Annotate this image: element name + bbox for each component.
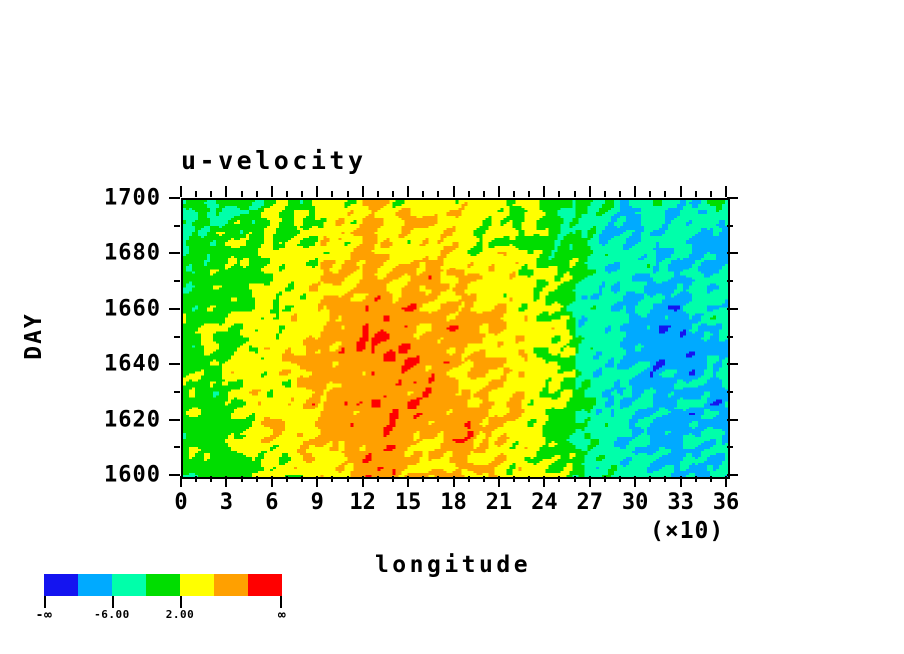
x-axis-tick bbox=[180, 476, 182, 487]
x-axis-minor-tick bbox=[286, 191, 288, 197]
colorbar-band bbox=[146, 574, 180, 596]
x-axis-tick-label: 3 bbox=[220, 490, 233, 515]
x-axis-minor-tick bbox=[528, 191, 530, 197]
x-axis-minor-tick bbox=[649, 476, 651, 482]
x-axis-minor-tick bbox=[695, 476, 697, 482]
x-axis-title: longitude bbox=[375, 552, 531, 578]
x-axis-tick bbox=[180, 186, 182, 197]
x-axis-minor-tick bbox=[649, 191, 651, 197]
x-axis-minor-tick bbox=[392, 191, 394, 197]
x-axis-minor-tick bbox=[195, 191, 197, 197]
x-axis-tick-label: 9 bbox=[311, 490, 324, 515]
x-axis-minor-tick bbox=[468, 191, 470, 197]
x-axis-minor-tick bbox=[331, 191, 333, 197]
x-axis-minor-tick bbox=[286, 476, 288, 482]
x-axis-minor-tick bbox=[664, 476, 666, 482]
colorbar-tick-label: -6.00 bbox=[94, 608, 130, 621]
y-axis-tick-label: 1640 bbox=[69, 352, 161, 377]
x-axis-tick bbox=[498, 186, 500, 197]
x-axis-tick bbox=[680, 186, 682, 197]
x-axis-minor-tick bbox=[513, 476, 515, 482]
x-axis-minor-tick bbox=[195, 476, 197, 482]
x-axis-minor-tick bbox=[604, 476, 606, 482]
x-axis-minor-tick bbox=[574, 476, 576, 482]
colorbar-tick-label: 2.00 bbox=[166, 608, 195, 621]
x-axis-multiplier: (×10) bbox=[650, 518, 724, 544]
x-axis-tick bbox=[271, 476, 273, 487]
x-axis-tick-label: 27 bbox=[577, 490, 604, 515]
x-axis-tick bbox=[271, 186, 273, 197]
y-axis-tick bbox=[727, 252, 738, 254]
x-axis-tick bbox=[453, 186, 455, 197]
x-axis-minor-tick bbox=[377, 191, 379, 197]
chart-title: u-velocity bbox=[181, 146, 367, 175]
x-axis-minor-tick bbox=[422, 476, 424, 482]
colorbar-tick bbox=[280, 596, 282, 608]
y-axis-tick bbox=[727, 363, 738, 365]
x-axis-tick-label: 24 bbox=[531, 490, 558, 515]
x-axis-minor-tick bbox=[437, 476, 439, 482]
y-axis-title: DAY bbox=[21, 312, 47, 360]
y-axis-tick bbox=[727, 474, 738, 476]
x-axis-minor-tick bbox=[695, 191, 697, 197]
y-axis-tick bbox=[727, 419, 738, 421]
x-axis-minor-tick bbox=[528, 476, 530, 482]
colorbar-band bbox=[44, 574, 78, 596]
x-axis-tick-label: 33 bbox=[667, 490, 694, 515]
x-axis-minor-tick bbox=[437, 191, 439, 197]
y-axis-tick bbox=[169, 252, 180, 254]
colorbar-band bbox=[180, 574, 214, 596]
x-axis-minor-tick bbox=[301, 191, 303, 197]
y-axis-minor-tick bbox=[174, 391, 180, 393]
x-axis-tick bbox=[407, 186, 409, 197]
x-axis-tick-label: 36 bbox=[713, 490, 740, 515]
x-axis-minor-tick bbox=[604, 191, 606, 197]
heatmap-field bbox=[183, 200, 728, 477]
x-axis-minor-tick bbox=[513, 191, 515, 197]
x-axis-minor-tick bbox=[256, 191, 258, 197]
x-axis-minor-tick bbox=[483, 476, 485, 482]
x-axis-tick-label: 6 bbox=[265, 490, 278, 515]
x-axis-tick bbox=[634, 476, 636, 487]
x-axis-minor-tick bbox=[210, 191, 212, 197]
colorbar-band bbox=[248, 574, 282, 596]
x-axis-tick bbox=[725, 476, 727, 487]
y-axis-minor-tick bbox=[727, 446, 733, 448]
x-axis-minor-tick bbox=[347, 476, 349, 482]
colorbar-band bbox=[112, 574, 146, 596]
x-axis-minor-tick bbox=[422, 191, 424, 197]
x-axis-tick bbox=[589, 186, 591, 197]
y-axis-minor-tick bbox=[174, 225, 180, 227]
x-axis-minor-tick bbox=[664, 191, 666, 197]
x-axis-tick bbox=[725, 186, 727, 197]
x-axis-minor-tick bbox=[347, 191, 349, 197]
x-axis-minor-tick bbox=[619, 476, 621, 482]
x-axis-minor-tick bbox=[558, 191, 560, 197]
x-axis-minor-tick bbox=[256, 476, 258, 482]
x-axis-minor-tick bbox=[210, 476, 212, 482]
y-axis-minor-tick bbox=[727, 391, 733, 393]
x-axis-tick bbox=[362, 476, 364, 487]
x-axis-minor-tick bbox=[710, 476, 712, 482]
x-axis-tick-label: 15 bbox=[395, 490, 422, 515]
x-axis-minor-tick bbox=[241, 191, 243, 197]
x-axis-tick-label: 0 bbox=[174, 490, 187, 515]
y-axis-tick-label: 1620 bbox=[69, 407, 161, 432]
y-axis-tick-label: 1700 bbox=[69, 186, 161, 211]
chart-figure: u-velocity 03691215182124273033361600162… bbox=[0, 0, 904, 654]
x-axis-tick bbox=[316, 186, 318, 197]
x-axis-minor-tick bbox=[241, 476, 243, 482]
x-axis-tick bbox=[225, 476, 227, 487]
colorbar-tick-label: -∞ bbox=[36, 608, 53, 623]
y-axis-tick bbox=[169, 197, 180, 199]
y-axis-tick bbox=[169, 419, 180, 421]
x-axis-minor-tick bbox=[619, 191, 621, 197]
x-axis-minor-tick bbox=[301, 476, 303, 482]
colorbar-tick bbox=[44, 596, 46, 608]
x-axis-tick-label: 21 bbox=[486, 490, 513, 515]
x-axis-tick bbox=[589, 476, 591, 487]
y-axis-minor-tick bbox=[174, 336, 180, 338]
y-axis-tick bbox=[727, 197, 738, 199]
x-axis-minor-tick bbox=[710, 191, 712, 197]
y-axis-minor-tick bbox=[727, 280, 733, 282]
y-axis-tick bbox=[169, 363, 180, 365]
x-axis-tick bbox=[543, 186, 545, 197]
x-axis-tick bbox=[362, 186, 364, 197]
x-axis-minor-tick bbox=[558, 476, 560, 482]
x-axis-tick bbox=[453, 476, 455, 487]
colorbar-tick-label: ∞ bbox=[278, 608, 286, 623]
x-axis-tick bbox=[498, 476, 500, 487]
y-axis-tick-label: 1680 bbox=[69, 241, 161, 266]
y-axis-tick-label: 1660 bbox=[69, 296, 161, 321]
x-axis-tick bbox=[225, 186, 227, 197]
colorbar-band bbox=[214, 574, 248, 596]
y-axis-minor-tick bbox=[174, 446, 180, 448]
x-axis-tick bbox=[543, 476, 545, 487]
y-axis-minor-tick bbox=[727, 336, 733, 338]
x-axis-minor-tick bbox=[392, 476, 394, 482]
y-axis-minor-tick bbox=[727, 225, 733, 227]
x-axis-minor-tick bbox=[377, 476, 379, 482]
y-axis-tick bbox=[727, 308, 738, 310]
x-axis-tick-label: 30 bbox=[622, 490, 649, 515]
x-axis-tick-label: 12 bbox=[349, 490, 376, 515]
x-axis-minor-tick bbox=[483, 191, 485, 197]
x-axis-tick bbox=[680, 476, 682, 487]
x-axis-tick bbox=[634, 186, 636, 197]
x-axis-minor-tick bbox=[468, 476, 470, 482]
y-axis-tick bbox=[169, 474, 180, 476]
y-axis-tick bbox=[169, 308, 180, 310]
x-axis-minor-tick bbox=[574, 191, 576, 197]
x-axis-tick bbox=[316, 476, 318, 487]
x-axis-tick bbox=[407, 476, 409, 487]
colorbar bbox=[44, 574, 282, 596]
y-axis-tick-label: 1600 bbox=[69, 463, 161, 488]
plot-area bbox=[181, 198, 730, 479]
x-axis-minor-tick bbox=[331, 476, 333, 482]
x-axis-tick-label: 18 bbox=[440, 490, 467, 515]
colorbar-band bbox=[78, 574, 112, 596]
colorbar-tick bbox=[180, 596, 182, 608]
y-axis-minor-tick bbox=[174, 280, 180, 282]
colorbar-tick bbox=[112, 596, 114, 608]
